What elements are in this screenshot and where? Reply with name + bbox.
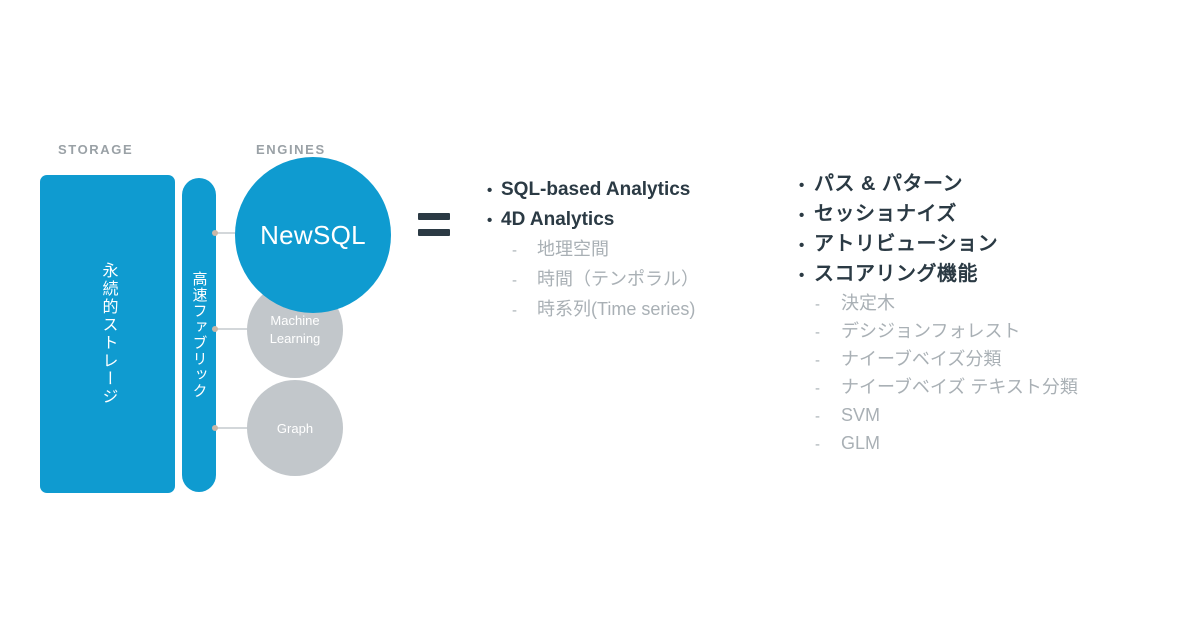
analytics-feature-item: •4D Analytics [487, 205, 787, 235]
analytics-feature-item: -時間（テンポラル） [487, 265, 787, 295]
equals-bar-bottom [418, 229, 450, 236]
advanced-feature-item: -ナイーブベイズ テキスト分類 [799, 374, 1169, 402]
bullet-dot-icon: • [799, 261, 814, 290]
analytics-feature-item: -時系列(Time series) [487, 295, 787, 325]
advanced-feature-item: -ナイーブベイズ分類 [799, 346, 1169, 374]
bullet-dash-icon: - [815, 319, 841, 346]
analytics-feature-item-label: 時間（テンポラル） [537, 265, 699, 294]
bullet-dot-icon: • [799, 171, 814, 200]
advanced-feature-item: -決定木 [799, 290, 1169, 318]
bullet-dash-icon: - [512, 296, 537, 325]
bullet-dash-icon: - [815, 375, 841, 402]
advanced-feature-item-label: ナイーブベイズ テキスト分類 [841, 374, 1078, 401]
fabric-pill-label: 高速ファブリック [182, 178, 216, 492]
engine-circle-graph-label: Graph [277, 421, 313, 436]
bullet-dash-icon: - [815, 403, 841, 430]
analytics-feature-item: •SQL-based Analytics [487, 175, 787, 205]
advanced-feature-list: •パス & パターン•セッショナイズ•アトリビューション•スコアリング機能-決定… [799, 170, 1169, 458]
analytics-feature-item-label: SQL-based Analytics [501, 175, 690, 204]
column-header-engines: ENGINES [256, 142, 326, 157]
architecture-diagram: STORAGE ENGINES 永続的ストレージ 高速ファブリック Graph … [0, 0, 1200, 630]
advanced-feature-item: -SVM [799, 402, 1169, 430]
bullet-dot-icon: • [799, 231, 814, 260]
bullet-dot-icon: • [487, 206, 501, 235]
engine-circle-newsql-label: NewSQL [260, 220, 366, 251]
engine-circle-machine-learning-label: Machine Learning [247, 312, 343, 347]
bullet-dash-icon: - [512, 266, 537, 295]
bullet-dash-icon: - [815, 291, 841, 318]
bullet-dot-icon: • [799, 201, 814, 230]
bullet-dash-icon: - [815, 431, 841, 458]
analytics-feature-item-label: 地理空間 [537, 235, 609, 264]
advanced-feature-item: •スコアリング機能 [799, 260, 1169, 290]
analytics-feature-item-label: 時系列(Time series) [537, 295, 695, 324]
advanced-feature-item-label: デシジョンフォレスト [841, 318, 1020, 345]
advanced-feature-item: •パス & パターン [799, 170, 1169, 200]
engine-circle-graph: Graph [247, 380, 343, 476]
analytics-feature-list: •SQL-based Analytics•4D Analytics-地理空間-時… [487, 175, 787, 325]
column-header-storage: STORAGE [58, 142, 133, 157]
advanced-feature-item-label: SVM [841, 402, 880, 429]
connector-dot-icon [212, 230, 218, 236]
advanced-feature-item-label: セッショナイズ [814, 200, 957, 229]
advanced-feature-item-label: スコアリング機能 [814, 260, 978, 289]
bullet-dash-icon: - [512, 236, 537, 265]
advanced-feature-item-label: GLM [841, 430, 880, 457]
advanced-feature-item-label: ナイーブベイズ分類 [841, 346, 1001, 373]
fabric-pill: 高速ファブリック [182, 178, 216, 492]
equals-bar-top [418, 213, 450, 220]
connector-dot-icon [212, 326, 218, 332]
advanced-feature-item: -GLM [799, 430, 1169, 458]
advanced-feature-item: •セッショナイズ [799, 200, 1169, 230]
bullet-dot-icon: • [487, 176, 501, 205]
advanced-feature-item: -デシジョンフォレスト [799, 318, 1169, 346]
bullet-dash-icon: - [815, 347, 841, 374]
connector-dot-icon [212, 425, 218, 431]
advanced-feature-item-label: アトリビューション [814, 230, 998, 259]
storage-block-label: 永続的ストレージ [40, 175, 175, 493]
equals-sign-icon [418, 205, 452, 249]
storage-block: 永続的ストレージ [40, 175, 175, 493]
analytics-feature-item-label: 4D Analytics [501, 205, 614, 234]
analytics-feature-item: -地理空間 [487, 235, 787, 265]
advanced-feature-item-label: 決定木 [841, 290, 895, 317]
advanced-feature-item: •アトリビューション [799, 230, 1169, 260]
engine-circle-newsql: NewSQL [235, 157, 391, 313]
advanced-feature-item-label: パス & パターン [814, 170, 963, 199]
